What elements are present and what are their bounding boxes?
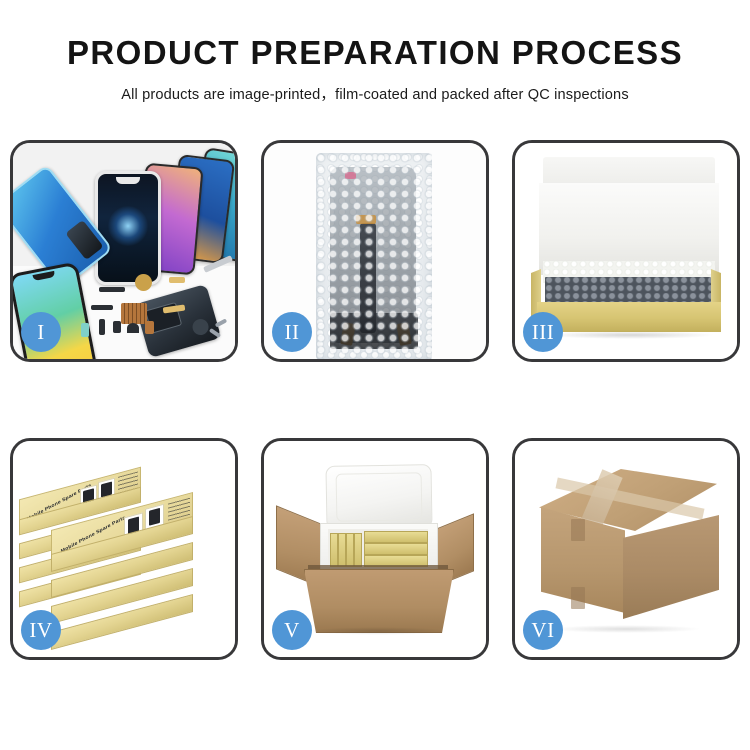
- part-sim-tray: [81, 323, 89, 337]
- carton-drop-shadow: [308, 627, 448, 635]
- bubble-wrapped-contents: [545, 277, 711, 305]
- box-drop-shadow: [545, 331, 715, 339]
- page-title: PRODUCT PREPARATION PROCESS: [0, 0, 750, 71]
- part-vibrator-coil: [135, 274, 152, 291]
- process-step-panel-1[interactable]: I: [10, 140, 238, 362]
- step-badge-3: III: [523, 312, 563, 352]
- retail-box-in-foam-3: [346, 533, 354, 567]
- retail-box-in-foam-6: [364, 543, 428, 555]
- process-step-panel-4[interactable]: Mobile Phone Spare Parts Mobile Phone Sp…: [10, 438, 238, 660]
- retail-box-in-foam-4: [354, 533, 362, 567]
- step-badge-1: I: [21, 312, 61, 352]
- foam-box-lid: [325, 464, 432, 530]
- phone-screen-black: [95, 171, 161, 285]
- process-step-panel-2[interactable]: II: [261, 140, 489, 362]
- box-front-wall: [537, 302, 721, 332]
- process-step-panel-3[interactable]: III: [512, 140, 740, 362]
- page-subtitle: All products are image-printed，film-coat…: [0, 71, 750, 104]
- qc-pink-sticker: [345, 172, 356, 179]
- retail-box-in-foam-1: [330, 533, 338, 567]
- step-badge-4: IV: [21, 610, 61, 650]
- part-button-a: [99, 319, 105, 335]
- carton-body: [304, 569, 454, 633]
- step-badge-5: V: [272, 610, 312, 650]
- part-bracket: [91, 305, 113, 310]
- bubble-wrap-bag: [316, 153, 432, 359]
- part-flex-cable-a: [169, 277, 185, 283]
- process-step-panel-5[interactable]: V: [261, 438, 489, 660]
- part-speaker-bar: [99, 287, 125, 292]
- retail-box-in-foam-2: [338, 533, 346, 567]
- sealed-carton-side: [623, 515, 719, 619]
- part-connector: [145, 321, 154, 334]
- process-step-grid: I II III: [10, 140, 740, 690]
- step-badge-6: VI: [523, 610, 563, 650]
- retail-box-in-foam-5: [364, 531, 428, 543]
- step-badge-2: II: [272, 312, 312, 352]
- part-camera-ring: [127, 323, 139, 333]
- flex-connector-top: [356, 215, 376, 224]
- sealed-carton-shadow: [551, 625, 701, 633]
- carton-mark-top: [571, 519, 585, 541]
- part-ic-array: [121, 303, 147, 324]
- header: PRODUCT PREPARATION PROCESS All products…: [0, 0, 750, 104]
- part-button-b: [113, 321, 121, 333]
- carton-mark-bottom: [571, 587, 585, 609]
- process-step-panel-6[interactable]: VI: [512, 438, 740, 660]
- screen-bottom-assembly: [330, 313, 418, 349]
